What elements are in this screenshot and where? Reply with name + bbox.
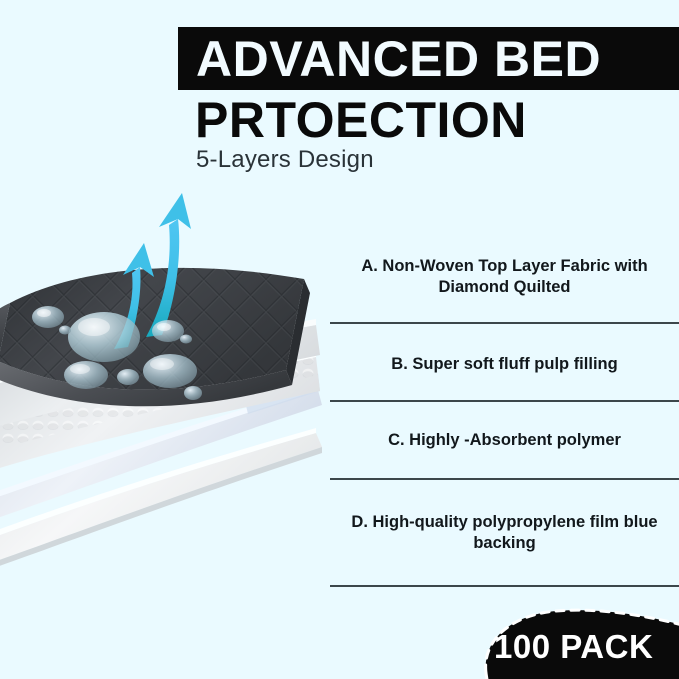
title-banner: ADVANCED BED [178, 27, 679, 90]
feature-divider-1 [330, 322, 679, 324]
page-title-line1: ADVANCED BED [196, 34, 601, 84]
product-infographic: ADVANCED BED PRTOECTION 5-Layers Design [0, 0, 679, 679]
page-title-line2: PRTOECTION [195, 95, 527, 145]
feature-divider-2 [330, 400, 679, 402]
page-subtitle: 5-Layers Design [196, 148, 374, 172]
feature-divider-4 [330, 585, 679, 587]
feature-divider-3 [330, 478, 679, 480]
pack-count-badge: 100 PACK [452, 607, 679, 679]
feature-item-a: A. Non-Woven Top Layer Fabric with Diamo… [330, 256, 679, 298]
feature-item-d: D. High-quality polypropylene film blue … [330, 512, 679, 554]
pack-count-label: 100 PACK [494, 630, 653, 663]
feature-item-b: B. Super soft fluff pulp filling [330, 354, 679, 375]
feature-item-c: C. Highly -Absorbent polymer [330, 430, 679, 451]
layers-illustration [0, 185, 336, 585]
